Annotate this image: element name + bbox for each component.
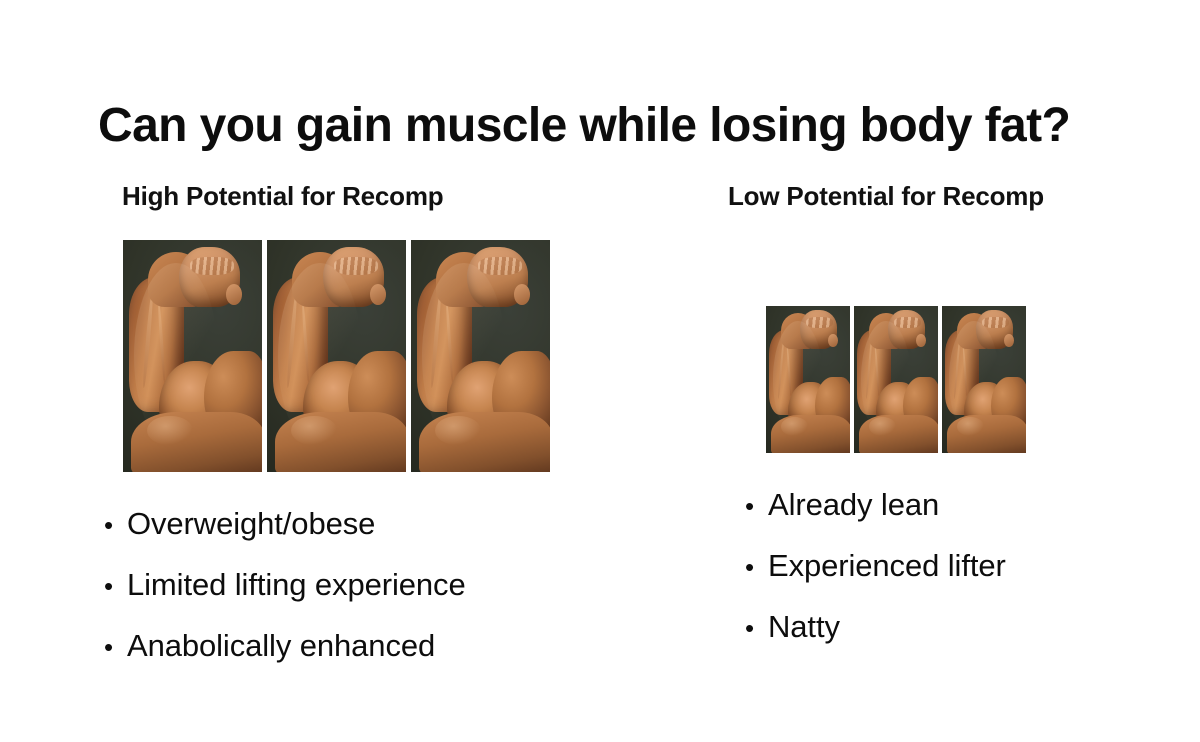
list-item: • Anabolically enhanced xyxy=(104,616,660,677)
bullet-dot-icon: • xyxy=(104,617,127,677)
slide-canvas: Can you gain muscle while losing body fa… xyxy=(0,0,1200,742)
list-item-label: Experienced lifter xyxy=(768,536,1006,596)
fist-shape xyxy=(976,310,1013,348)
list-item: • Natty xyxy=(745,597,1182,658)
lower-arm-mass-shape xyxy=(275,412,406,472)
lower-arm-mass-shape xyxy=(131,412,262,472)
list-item-label: Anabolically enhanced xyxy=(127,616,435,676)
fist-shape xyxy=(888,310,925,348)
arm-illustration xyxy=(411,240,550,472)
lower-arm-mass-shape xyxy=(419,412,550,472)
bullet-list-low-potential: • Already lean • Experienced lifter • Na… xyxy=(745,475,1182,658)
list-item-label: Natty xyxy=(768,597,840,657)
bullet-dot-icon: • xyxy=(745,537,768,597)
bullet-dot-icon: • xyxy=(104,556,127,616)
arm-illustration xyxy=(854,306,938,453)
arm-illustration xyxy=(123,240,262,472)
column-heading-high-potential: High Potential for Recomp xyxy=(122,180,660,212)
column-high-potential: High Potential for Recomp xyxy=(100,180,660,677)
list-item-label: Limited lifting experience xyxy=(127,555,466,615)
arm-illustration xyxy=(267,240,406,472)
list-item: • Experienced lifter xyxy=(745,536,1182,597)
bullet-dot-icon: • xyxy=(745,598,768,658)
bullet-dot-icon: • xyxy=(104,495,127,555)
lower-arm-mass-shape xyxy=(947,415,1026,453)
lower-arm-mass-shape xyxy=(859,415,938,453)
lower-arm-mass-shape xyxy=(771,415,850,453)
bullet-dot-icon: • xyxy=(745,476,768,536)
arm-photo-large-2 xyxy=(267,240,406,472)
fist-shape xyxy=(323,247,384,307)
column-low-potential: Low Potential for Recomp xyxy=(712,180,1182,658)
arm-photo-small-2 xyxy=(854,306,938,453)
fist-shape xyxy=(800,310,837,348)
arm-illustration xyxy=(766,306,850,453)
arm-photo-small-1 xyxy=(766,306,850,453)
bullet-list-high-potential: • Overweight/obese • Limited lifting exp… xyxy=(104,494,660,677)
image-group-low-potential xyxy=(766,306,1182,453)
list-item: • Already lean xyxy=(745,475,1182,536)
list-item-label: Overweight/obese xyxy=(127,494,375,554)
fist-shape xyxy=(179,247,240,307)
list-item: • Overweight/obese xyxy=(104,494,660,555)
image-group-high-potential xyxy=(123,240,660,472)
arm-photo-large-1 xyxy=(123,240,262,472)
list-item: • Limited lifting experience xyxy=(104,555,660,616)
list-item-label: Already lean xyxy=(768,475,939,535)
arm-photo-small-3 xyxy=(942,306,1026,453)
column-heading-low-potential: Low Potential for Recomp xyxy=(728,180,1182,212)
fist-shape xyxy=(467,247,528,307)
arm-illustration xyxy=(942,306,1026,453)
page-title: Can you gain muscle while losing body fa… xyxy=(98,98,1188,154)
arm-photo-large-3 xyxy=(411,240,550,472)
